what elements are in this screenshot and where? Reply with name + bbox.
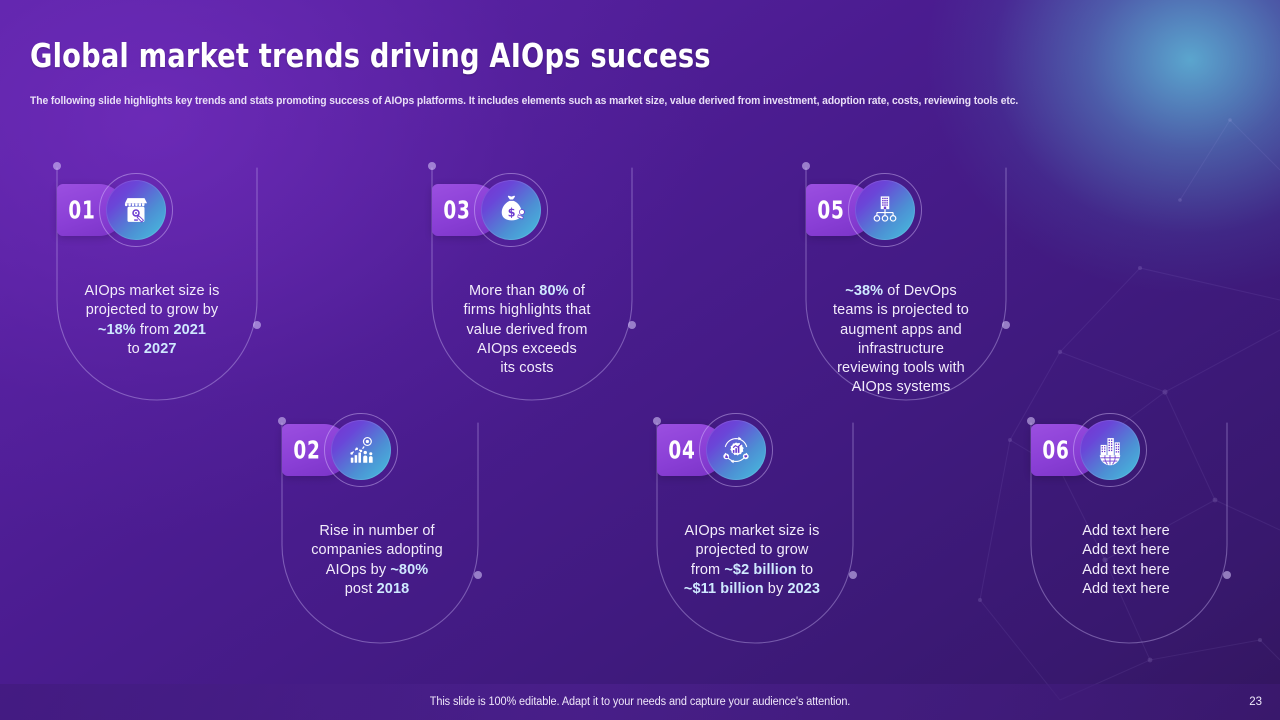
trend-text-line: AIOps market size is [657,522,847,541]
trend-text-line: ~38% of DevOps [806,282,996,301]
storefront-search-icon [119,193,153,227]
highlight-value: ~80% [390,562,428,578]
highlight-value: ~$11 billion [684,581,764,597]
text-run: AIOps exceeds [477,341,577,357]
text-run: Add text here [1082,581,1170,597]
page-title: Global market trends driving AIOps succe… [30,36,711,75]
trend-text-line: reviewing tools with [806,359,996,378]
trend-text-line: ~$11 billion by 2023 [657,580,847,599]
trend-text-line: Add text here [1031,561,1221,580]
trend-text: AIOps market size isprojected to growfro… [657,522,847,599]
text-run: projected to grow by [86,302,219,318]
icon-disc[interactable] [706,420,766,480]
icon-disc[interactable] [331,420,391,480]
highlight-value: ~18% [98,322,136,338]
trend-text-line: projected to grow by [57,301,247,320]
page-number: 23 [1249,696,1262,708]
number-badge-label: 06 [1036,436,1077,465]
trend-text-line: infrastructure [806,340,996,359]
trend-text-line: AIOps by ~80% [282,561,472,580]
text-run: augment apps and [840,322,962,338]
trend-text-line: teams is projected to [806,301,996,320]
number-badge-label: 02 [287,436,328,465]
slide-canvas: Global market trends driving AIOps succe… [0,0,1280,720]
trend-text-line: More than 80% of [432,282,622,301]
trend-text-line: to 2027 [57,340,247,359]
text-run: projected to grow [696,542,809,558]
text-run: Add text here [1082,523,1170,539]
trend-text: More than 80% offirms highlights thatval… [432,282,622,378]
highlight-value: 2027 [144,341,177,357]
icon-disc[interactable] [106,180,166,240]
text-run: AIOps market size is [685,523,820,539]
text-run: firms highlights that [463,302,590,318]
icon-ring: $ [474,173,548,247]
trend-text-line: from ~$2 billion to [657,561,847,580]
trend-text-line: Add text here [1031,580,1221,599]
text-run: AIOps by [326,562,391,578]
network-background-pattern [0,0,1280,720]
trend-text: Add text hereAdd text hereAdd text hereA… [1031,522,1221,599]
text-run: post [345,581,377,597]
org-hierarchy-building-icon [868,193,902,227]
icon-disc[interactable]: $ [481,180,541,240]
text-run: companies adopting [311,542,443,558]
trend-text-line: value derived from [432,321,622,340]
trend-text: AIOps market size isprojected to grow by… [57,282,247,359]
text-run: of [569,283,585,299]
trend-text-line: AIOps exceeds [432,340,622,359]
text-run: infrastructure [858,341,944,357]
number-badge-label: 03 [437,196,478,225]
trend-text-line: Rise in number of [282,522,472,541]
number-badge-label: 01 [62,196,103,225]
svg-text:$: $ [508,206,516,219]
highlight-value: 2023 [787,581,820,597]
icon-disc[interactable] [1080,420,1140,480]
page-subtitle: The following slide highlights key trend… [30,95,1139,107]
text-run: of DevOps [883,283,957,299]
trend-text-line: Add text here [1031,541,1221,560]
money-bag-icon: $ [494,193,528,227]
text-run: Add text here [1082,542,1170,558]
icon-ring [1073,413,1147,487]
footer-bar: This slide is 100% editable. Adapt it to… [0,684,1280,720]
icon-ring [324,413,398,487]
icon-ring [848,173,922,247]
text-run: Rise in number of [319,523,434,539]
trend-text-line: post 2018 [282,580,472,599]
text-run: to [127,341,143,357]
trend-text-line: projected to grow [657,541,847,560]
number-badge-label: 05 [811,196,852,225]
highlight-value: 2021 [173,322,206,338]
text-run: More than [469,283,539,299]
trend-text-line: AIOps systems [806,378,996,397]
text-run: from [136,322,174,338]
trend-text-line: firms highlights that [432,301,622,320]
text-run: value derived from [466,322,587,338]
growth-chart-people-icon [344,433,378,467]
icon-ring [699,413,773,487]
trend-text-line: ~18% from 2021 [57,321,247,340]
number-badge-label: 04 [662,436,703,465]
highlight-value: 2018 [377,581,410,597]
text-run: Add text here [1082,562,1170,578]
icon-disc[interactable] [855,180,915,240]
trend-text-line: companies adopting [282,541,472,560]
text-run: AIOps market size is [85,283,220,299]
text-run: reviewing tools with [837,360,965,376]
decorative-arc-group [0,0,1280,720]
trend-text-line: augment apps and [806,321,996,340]
text-run: from [691,562,725,578]
gear-analytics-cycle-icon [719,433,753,467]
text-run: to [797,562,813,578]
city-globe-icon [1093,433,1127,467]
trend-text-line: AIOps market size is [57,282,247,301]
text-run: by [764,581,788,597]
text-run: AIOps systems [852,379,951,395]
trend-text: ~38% of DevOpsteams is projected toaugme… [806,282,996,398]
highlight-value: ~38% [845,283,883,299]
icon-ring [99,173,173,247]
highlight-value: 80% [539,283,568,299]
text-run: its costs [500,360,553,376]
trend-text-line: its costs [432,359,622,378]
trend-text-line: Add text here [1031,522,1221,541]
footer-note: This slide is 100% editable. Adapt it to… [430,696,850,708]
highlight-value: ~$2 billion [724,562,796,578]
trend-text: Rise in number ofcompanies adoptingAIOps… [282,522,472,599]
text-run: teams is projected to [833,302,969,318]
